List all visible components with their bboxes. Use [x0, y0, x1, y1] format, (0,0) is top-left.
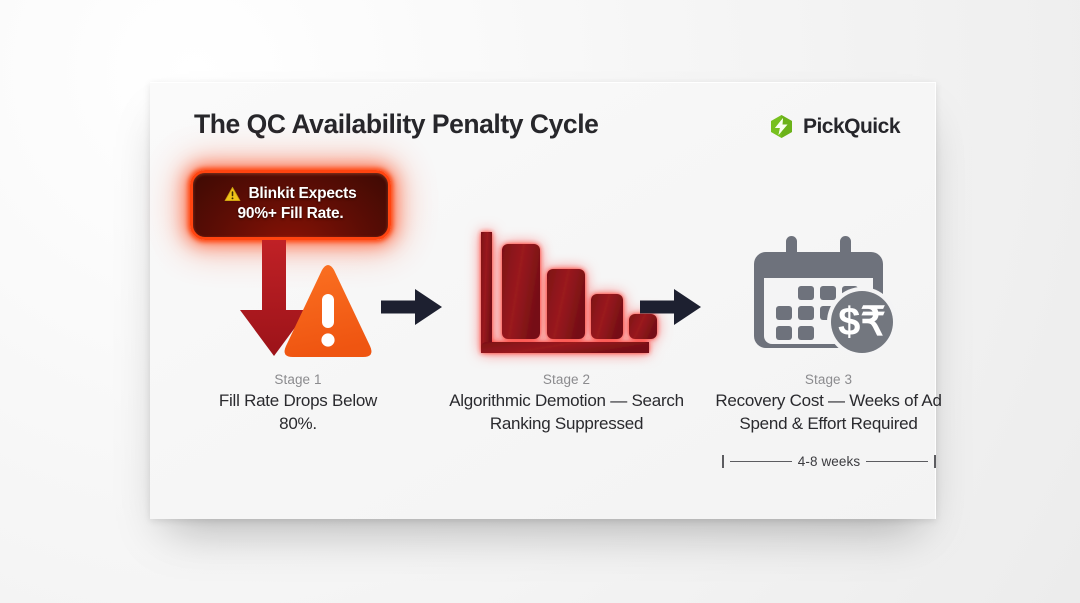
warning-triangle-icon — [224, 186, 241, 202]
duration-rule-left — [730, 461, 792, 463]
stage-3-artwork: $₹ — [710, 230, 947, 362]
stage-3-description: Recovery Cost — Weeks of Ad Spend & Effo… — [710, 390, 947, 435]
stage-1-artwork — [198, 230, 398, 362]
stage-2: Stage 2 Algorithmic Demotion — Search Ra… — [443, 230, 690, 435]
dollar-rupee-coin-icon: $₹ — [827, 287, 897, 357]
stage-2-description: Algorithmic Demotion — Search Ranking Su… — [443, 390, 690, 435]
badge-first-line: Blinkit Expects — [203, 184, 378, 204]
brand-logo: PickQuick — [769, 114, 900, 139]
stage-3-label: Stage 3 — [710, 372, 947, 387]
stage-1: Stage 1 Fill Rate Drops Below 80%. — [198, 230, 398, 435]
duration-cap-right — [934, 455, 936, 468]
badge-label-line2: 90%+ Fill Rate. — [203, 204, 378, 224]
duration-annotation: 4-8 weeks — [722, 454, 936, 469]
connector-arrow-2 — [640, 287, 702, 327]
infographic-card: The QC Availability Penalty Cycle PickQu… — [150, 82, 936, 519]
stage-1-description: Fill Rate Drops Below 80%. — [198, 390, 398, 435]
connector-arrow-1 — [381, 287, 443, 327]
page-title: The QC Availability Penalty Cycle — [194, 109, 598, 140]
duration-cap-left — [722, 455, 724, 468]
green-bolt-hexagon-icon — [769, 114, 794, 139]
coin-label: $₹ — [838, 300, 886, 344]
stage-2-label: Stage 2 — [443, 372, 690, 387]
stage-1-label: Stage 1 — [198, 372, 398, 387]
badge-label-line1: Blinkit Expects — [248, 184, 356, 204]
stage-3: $₹ Stage 3 Recovery Cost — Weeks of Ad S… — [710, 230, 947, 435]
logo-text: PickQuick — [803, 115, 900, 139]
duration-label: 4-8 weeks — [798, 454, 860, 469]
declining-bar-chart-icon — [481, 232, 657, 353]
duration-rule-right — [866, 461, 928, 463]
